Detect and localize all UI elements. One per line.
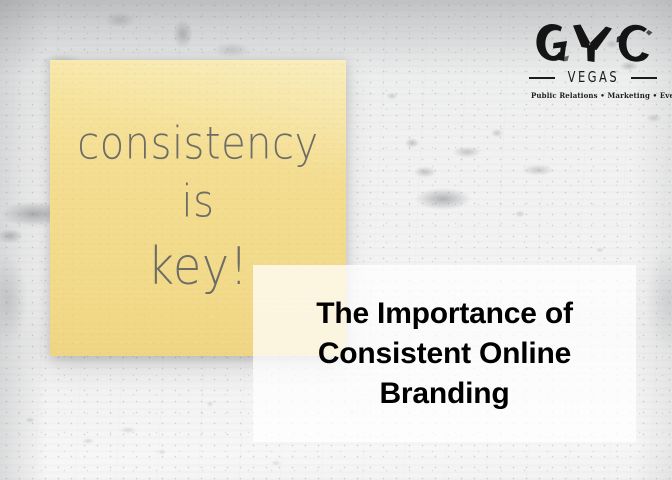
logo-vegas-row: VEGAS <box>531 70 655 86</box>
logo-rule-left <box>529 77 555 79</box>
sticky-note-line-2: is <box>182 177 215 226</box>
sticky-note-line-3: key! <box>148 239 249 293</box>
page-title: The Importance of Consistent Online Bran… <box>253 265 636 442</box>
gyc-vegas-logo: VEGAS Public Relations • Marketing • Eve… <box>531 17 655 109</box>
sticky-note-line-1: consistency <box>77 119 318 168</box>
gyc-brush-wordmark-icon <box>531 17 655 67</box>
poster-canvas: consistency is key! The Importance of Co… <box>0 0 672 480</box>
logo-location-text: VEGAS <box>567 70 618 87</box>
logo-rule-right <box>631 77 657 79</box>
logo-tagline: Public Relations • Marketing • Events <box>531 91 655 100</box>
